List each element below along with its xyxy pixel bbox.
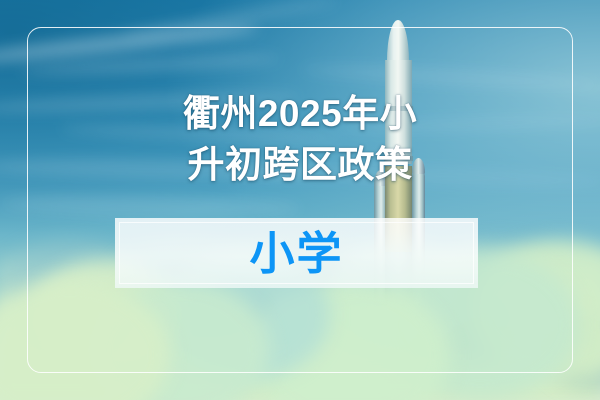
category-banner[interactable]: 小学 [115,218,478,288]
promo-card: 衢州2025年小 升初跨区政策 小学 [0,0,600,400]
category-banner-label: 小学 [249,231,343,276]
page-title: 衢州2025年小 升初跨区政策 [0,88,600,190]
rocket-nose-cone [387,20,409,64]
